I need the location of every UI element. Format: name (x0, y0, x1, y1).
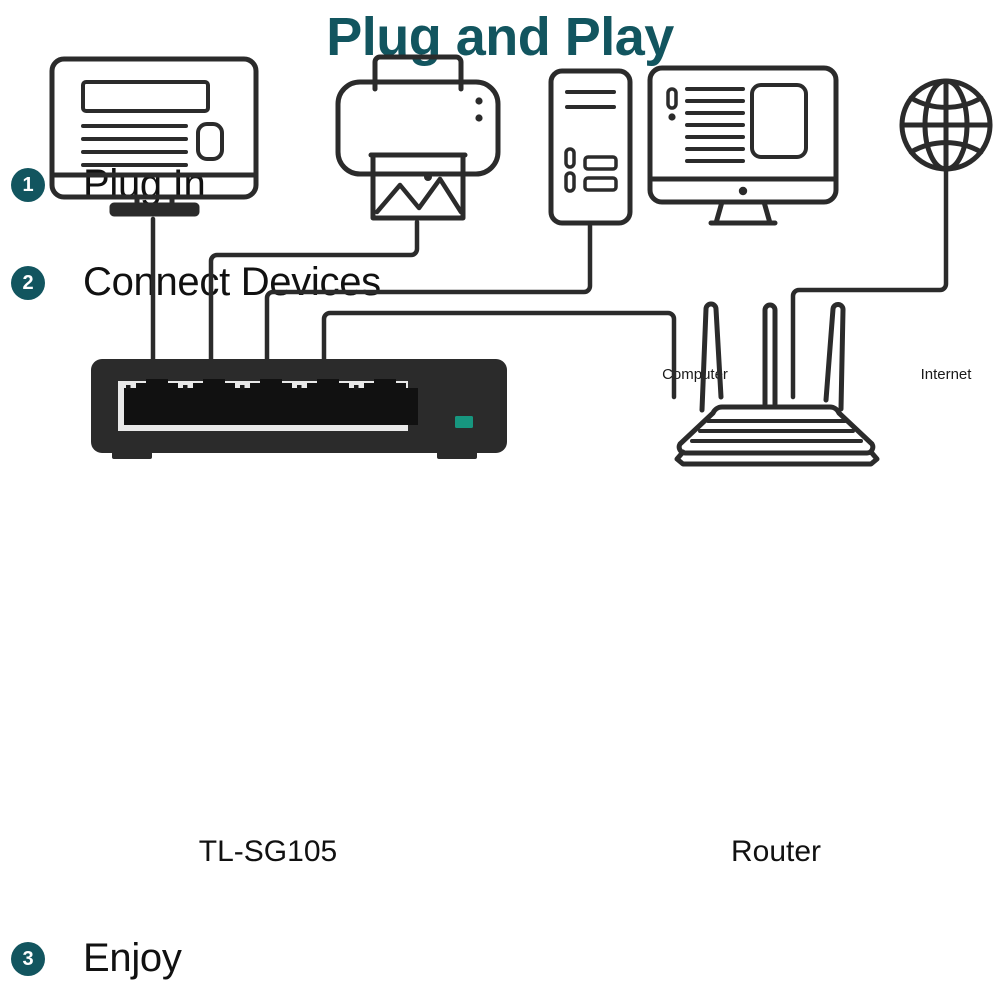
iptv-icon (52, 59, 256, 214)
network-diagram (0, 348, 1000, 878)
switch-status-led (455, 416, 473, 428)
step-3-number: 3 (11, 942, 45, 976)
router-antenna-center (765, 305, 775, 404)
tl-sg105-switch (91, 359, 507, 459)
computer-monitor-icon (650, 68, 836, 223)
router-antenna-right (826, 304, 843, 409)
wire-computer-to-switch (267, 226, 590, 364)
router-label: Router (731, 835, 821, 869)
router-antenna-left (702, 304, 721, 410)
computer-tower-icon (551, 71, 630, 223)
printer-icon (338, 57, 498, 218)
internet-globe-icon (902, 81, 990, 169)
switch-model-label: TL-SG105 (199, 835, 337, 869)
router-device (677, 304, 877, 464)
wire-internet-to-router (793, 171, 946, 397)
step-3-label: Enjoy (83, 936, 182, 981)
plug-and-play-page: Plug and Play 1 Plug In 2 Connect Device… (0, 0, 1000, 1000)
step-3-enjoy: 3 Enjoy (11, 936, 182, 981)
